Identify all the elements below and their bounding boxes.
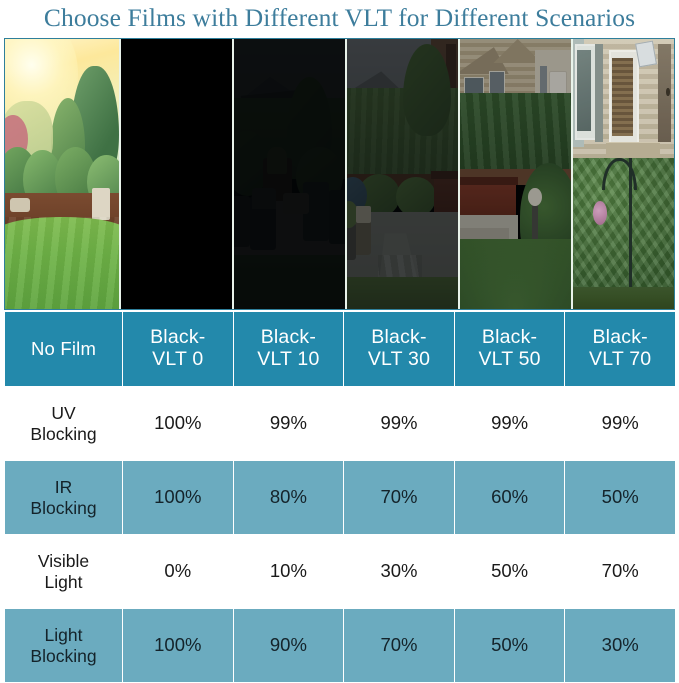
table-row-light-blocking: Light Blocking 100% 90% 70% 50% 30%: [5, 609, 676, 683]
column-header-vlt-10-line-1: VLT 10: [236, 349, 342, 371]
cell-uv-blocking-vlt-50: 99%: [454, 387, 565, 461]
cell-visible-light-no-film: 0%: [123, 535, 234, 609]
vlt-comparison-infographic: Choose Films with Different VLT for Diff…: [0, 0, 679, 682]
scene-house-window-shutters: [573, 39, 675, 309]
table-row-uv-blocking: UV Blocking 100% 99% 99% 99% 99%: [5, 387, 676, 461]
row-label-ir-blocking: IR Blocking: [5, 461, 123, 535]
page-title-text: Choose Films with Different VLT for Diff…: [44, 5, 635, 31]
cell-ir-blocking-vlt-30: 70%: [344, 461, 455, 535]
row-label-light-blocking-line-0: Light: [7, 625, 120, 646]
column-header-vlt-70: Black- VLT 70: [565, 312, 676, 387]
cell-ir-blocking-vlt-70: 50%: [565, 461, 676, 535]
scene-dark-patio: [234, 39, 345, 309]
column-header-vlt-30: Black- VLT 30: [344, 312, 455, 387]
cell-uv-blocking-vlt-30: 99%: [344, 387, 455, 461]
column-header-vlt-0-line-1: VLT 0: [125, 349, 231, 371]
row-label-ir-blocking-line-1: Blocking: [7, 498, 120, 519]
column-header-vlt-50-line-1: VLT 50: [457, 349, 563, 371]
cell-visible-light-vlt-30: 30%: [344, 535, 455, 609]
cell-ir-blocking-vlt-10: 80%: [233, 461, 344, 535]
row-label-visible-light: Visible Light: [5, 535, 123, 609]
cell-uv-blocking-no-film: 100%: [123, 387, 234, 461]
cell-ir-blocking-vlt-50: 60%: [454, 461, 565, 535]
photo-pane-vlt-70: [571, 39, 675, 309]
column-header-vlt-10-line-0: Black-: [236, 327, 342, 349]
scene-blackout: [121, 39, 232, 309]
photo-pane-vlt-50: [458, 39, 571, 309]
cell-ir-blocking-no-film: 100%: [123, 461, 234, 535]
scene-sunny-garden: [5, 39, 119, 309]
cell-uv-blocking-vlt-10: 99%: [233, 387, 344, 461]
column-header-vlt-30-line-1: VLT 30: [346, 349, 452, 371]
photo-pane-vlt-30: [345, 39, 458, 309]
photo-pane-no-film: [5, 39, 119, 309]
row-label-uv-blocking-line-0: UV: [7, 403, 120, 424]
column-header-vlt-10: Black- VLT 10: [233, 312, 344, 387]
photo-pane-vlt-0: [119, 39, 232, 309]
photo-comparison-strip: [4, 38, 675, 310]
column-header-vlt-0-line-0: Black-: [125, 327, 231, 349]
page-title: Choose Films with Different VLT for Diff…: [0, 0, 679, 36]
photo-pane-vlt-10: [232, 39, 345, 309]
column-header-no-film-line-0: No Film: [7, 339, 120, 360]
row-label-uv-blocking: UV Blocking: [5, 387, 123, 461]
cell-light-blocking-vlt-10: 90%: [233, 609, 344, 683]
row-label-light-blocking: Light Blocking: [5, 609, 123, 683]
cell-light-blocking-vlt-50: 50%: [454, 609, 565, 683]
table-row-ir-blocking: IR Blocking 100% 80% 70% 60% 50%: [5, 461, 676, 535]
row-label-visible-light-line-1: Light: [7, 572, 120, 593]
column-header-vlt-50: Black- VLT 50: [454, 312, 565, 387]
column-header-vlt-50-line-0: Black-: [457, 327, 563, 349]
column-header-no-film: No Film: [5, 312, 123, 387]
cell-light-blocking-vlt-30: 70%: [344, 609, 455, 683]
cell-visible-light-vlt-70: 70%: [565, 535, 676, 609]
scene-backyard-hedge-path: [347, 39, 458, 309]
column-header-vlt-70-line-0: Black-: [567, 327, 673, 349]
vlt-spec-table: No Film Black- VLT 0 Black- VLT 10 Black…: [4, 311, 676, 683]
row-label-uv-blocking-line-1: Blocking: [7, 424, 120, 445]
column-header-vlt-30-line-0: Black-: [346, 327, 452, 349]
scene-house-hot-tub: [460, 39, 571, 309]
table-row-visible-light: Visible Light 0% 10% 30% 50% 70%: [5, 535, 676, 609]
column-header-vlt-0: Black- VLT 0: [123, 312, 234, 387]
cell-light-blocking-vlt-70: 30%: [565, 609, 676, 683]
cell-light-blocking-no-film: 100%: [123, 609, 234, 683]
column-header-vlt-70-line-1: VLT 70: [567, 349, 673, 371]
row-label-visible-light-line-0: Visible: [7, 551, 120, 572]
row-label-light-blocking-line-1: Blocking: [7, 646, 120, 667]
row-label-ir-blocking-line-0: IR: [7, 477, 120, 498]
cell-uv-blocking-vlt-70: 99%: [565, 387, 676, 461]
cell-visible-light-vlt-10: 10%: [233, 535, 344, 609]
table-header-row: No Film Black- VLT 0 Black- VLT 10 Black…: [5, 312, 676, 387]
cell-visible-light-vlt-50: 50%: [454, 535, 565, 609]
